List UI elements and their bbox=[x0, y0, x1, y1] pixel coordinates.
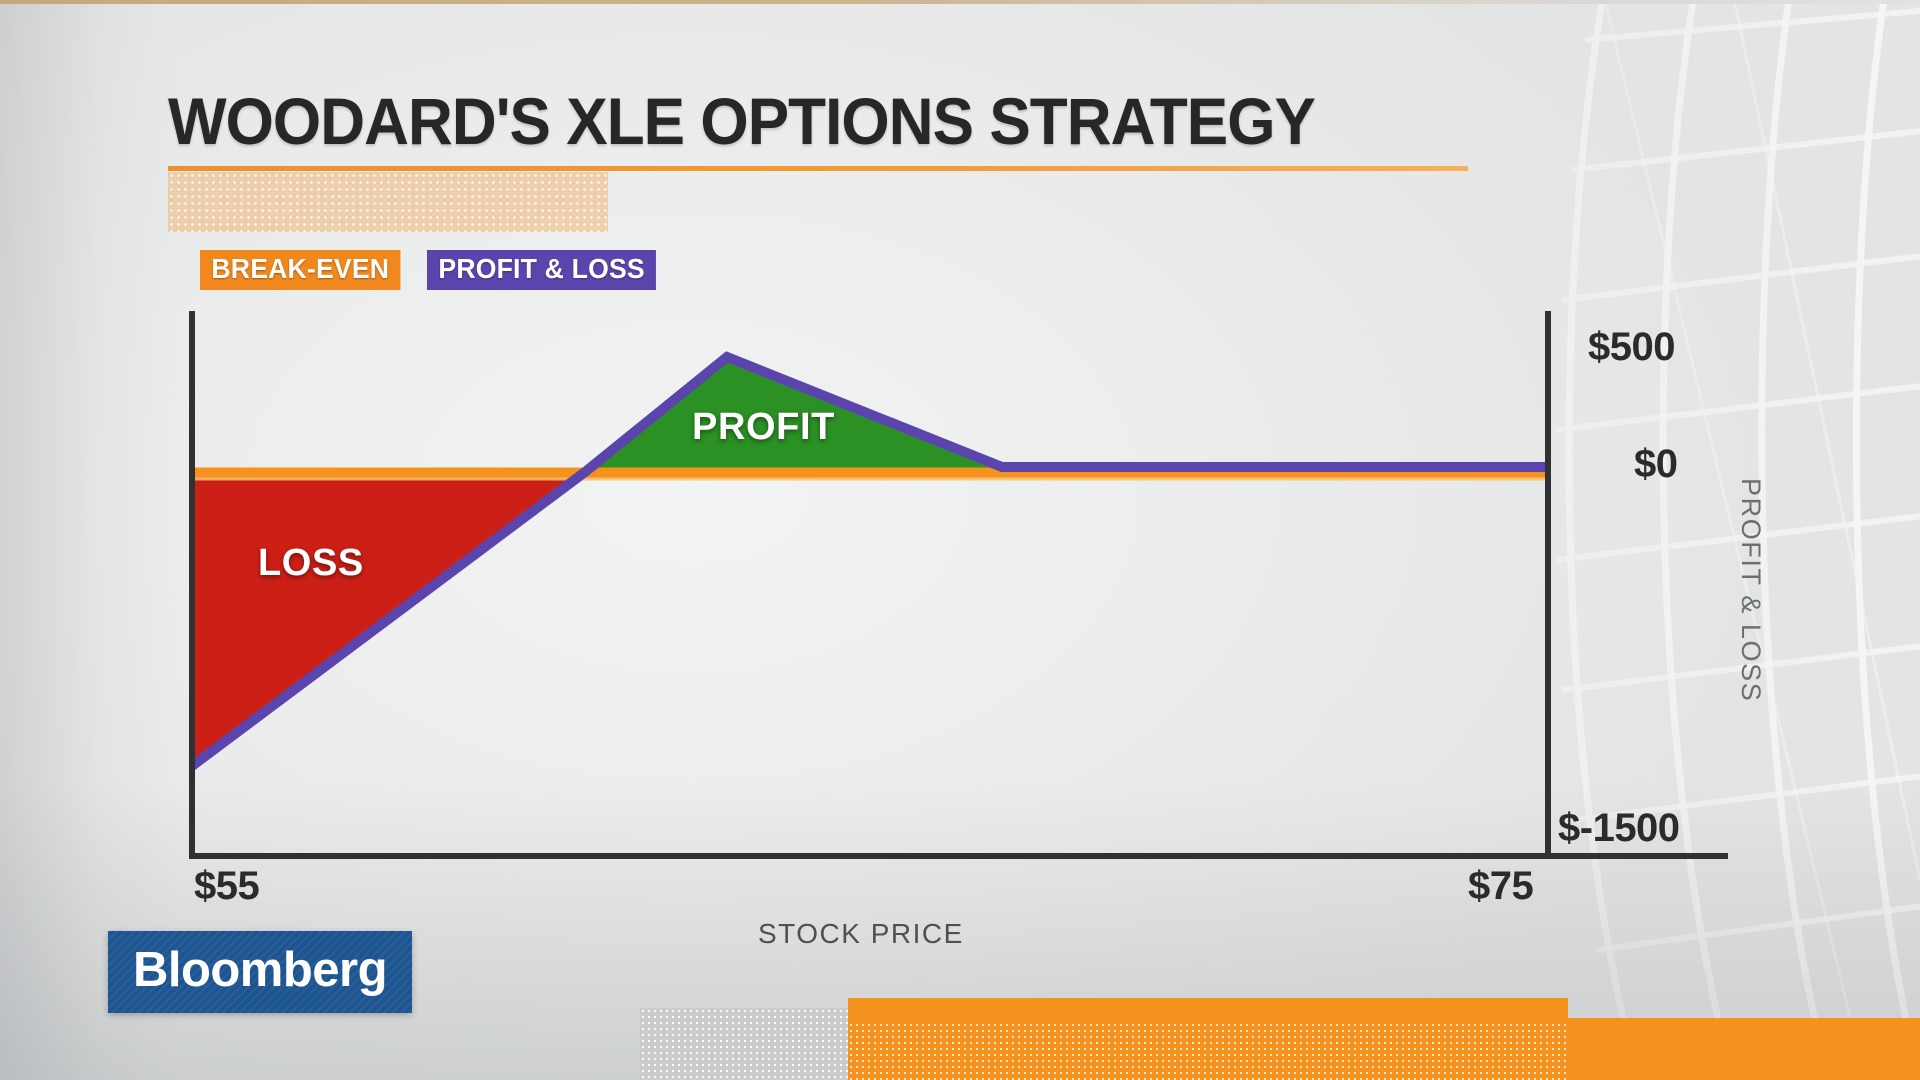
broadcast-graphic: WOODARD'S XLE OPTIONS STRATEGY BREAK-EVE… bbox=[0, 0, 1920, 1080]
x-tick-55: $55 bbox=[194, 864, 259, 909]
x-axis-title: STOCK PRICE bbox=[758, 918, 964, 950]
chart-plot-area: LOSS PROFIT $500 $0 $-1500 $55 $75 STOCK… bbox=[0, 0, 1920, 1080]
bottom-orange-bar-right bbox=[1568, 1018, 1920, 1080]
bloomberg-logo-text: Bloomberg bbox=[133, 946, 387, 995]
bottom-gray-dot-bar bbox=[640, 1008, 848, 1080]
y-tick-0: $0 bbox=[1634, 442, 1678, 487]
bloomberg-logo: Bloomberg bbox=[108, 931, 412, 1013]
loss-area-label: LOSS bbox=[258, 542, 364, 585]
profit-area-label: PROFIT bbox=[692, 406, 835, 449]
x-tick-75: $75 bbox=[1468, 864, 1533, 909]
y-tick-minus-1500: $-1500 bbox=[1558, 806, 1680, 851]
y-tick-500: $500 bbox=[1588, 325, 1675, 370]
y-axis-title: PROFIT & LOSS bbox=[1735, 478, 1766, 702]
bottom-orange-dot-overlay bbox=[848, 1022, 1568, 1080]
